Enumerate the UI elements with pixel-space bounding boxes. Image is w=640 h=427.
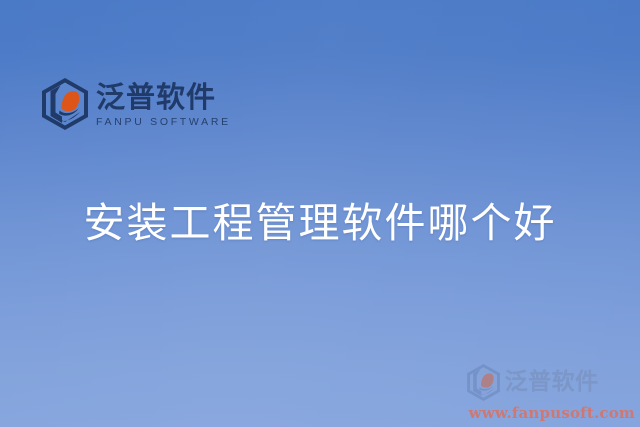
promo-banner: 泛普软件 FANPU SOFTWARE 安装工程管理软件哪个好 泛普软件 www… [0,0,640,427]
watermark-brand-name: 泛普软件 [505,371,599,394]
page-title: 安装工程管理软件哪个好 [84,199,557,248]
watermark-row: 泛普软件 [467,364,635,401]
brand-name-en: FANPU SOFTWARE [96,117,231,128]
watermark: 泛普软件 www.fanpusoft.com [467,364,635,421]
brand-name-cn: 泛普软件 [96,82,231,112]
brand-logo[interactable]: 泛普软件 FANPU SOFTWARE [42,78,231,130]
fanpu-logo-mark-icon [42,78,88,130]
brand-wordmark: 泛普软件 FANPU SOFTWARE [96,80,231,128]
headline: 安装工程管理软件哪个好 [0,199,640,248]
fanpu-logo-mark-watermark-icon [467,364,500,401]
watermark-url: www.fanpusoft.com [469,406,635,421]
